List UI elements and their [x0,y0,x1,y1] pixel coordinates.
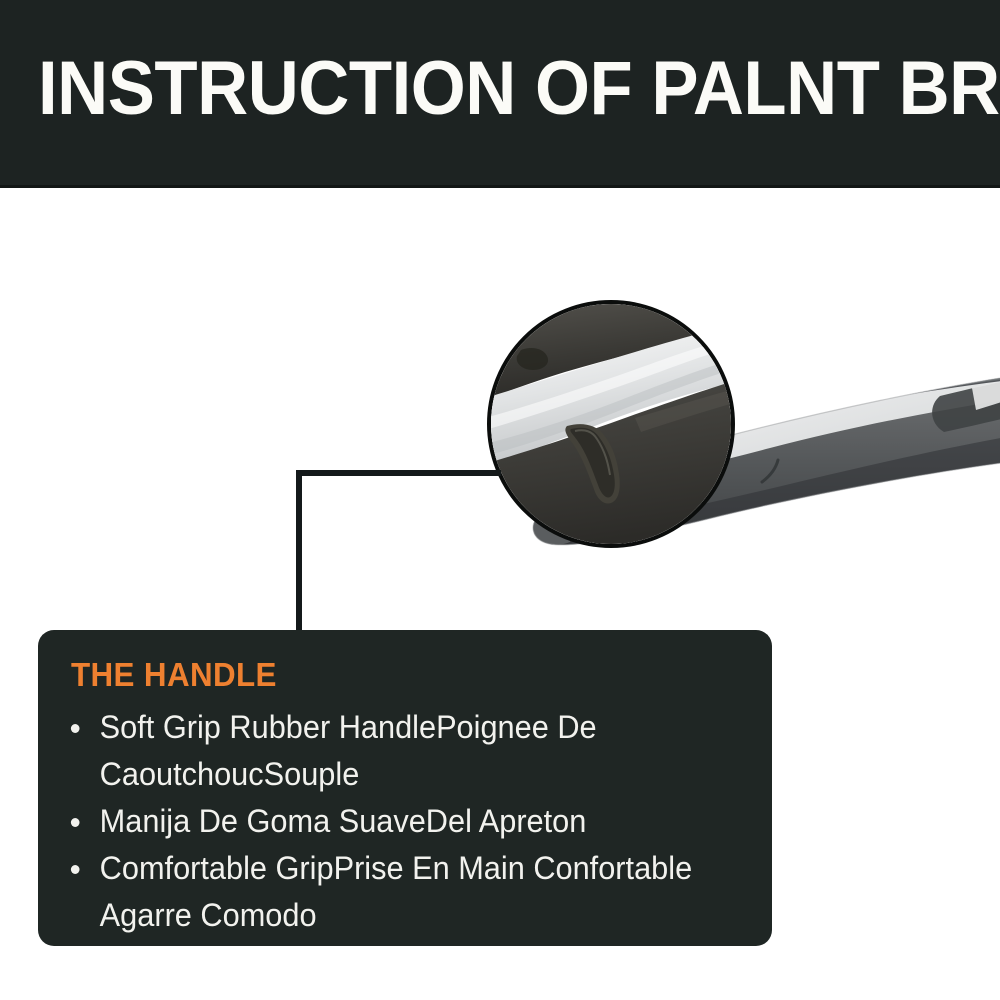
handle-closeup-magnifier [487,300,735,548]
instruction-page: INSTRUCTION OF PALNT BRUSH SET [0,0,1000,1000]
list-item: Comfortable GripPrise En Main Confortabl… [68,845,715,939]
bullet-icon [71,865,80,874]
list-item-label: Soft Grip Rubber HandlePoignee De Caoutc… [100,709,597,792]
list-item-label: Manija De Goma SuaveDel Apreton [100,803,587,839]
connector-line-vertical [296,470,302,638]
connector-line-horizontal [296,470,501,476]
card-heading: THE HANDLE [71,656,708,694]
list-item: Manija De Goma SuaveDel Apreton [68,798,715,845]
page-title: INSTRUCTION OF PALNT BRUSH SET [38,50,903,128]
info-card-the-handle: THE HANDLE Soft Grip Rubber HandlePoigne… [38,630,772,946]
bullet-icon [71,724,80,733]
list-item-label: Comfortable GripPrise En Main Confortabl… [100,850,692,933]
feature-list: Soft Grip Rubber HandlePoignee De Caoutc… [68,704,742,939]
magnifier-content [487,300,735,548]
list-item: Soft Grip Rubber HandlePoignee De Caoutc… [68,704,715,798]
header-band: INSTRUCTION OF PALNT BRUSH SET [0,0,1000,188]
product-photo-stage: ROLLINGDOG [0,188,1000,628]
bullet-icon [71,818,80,827]
